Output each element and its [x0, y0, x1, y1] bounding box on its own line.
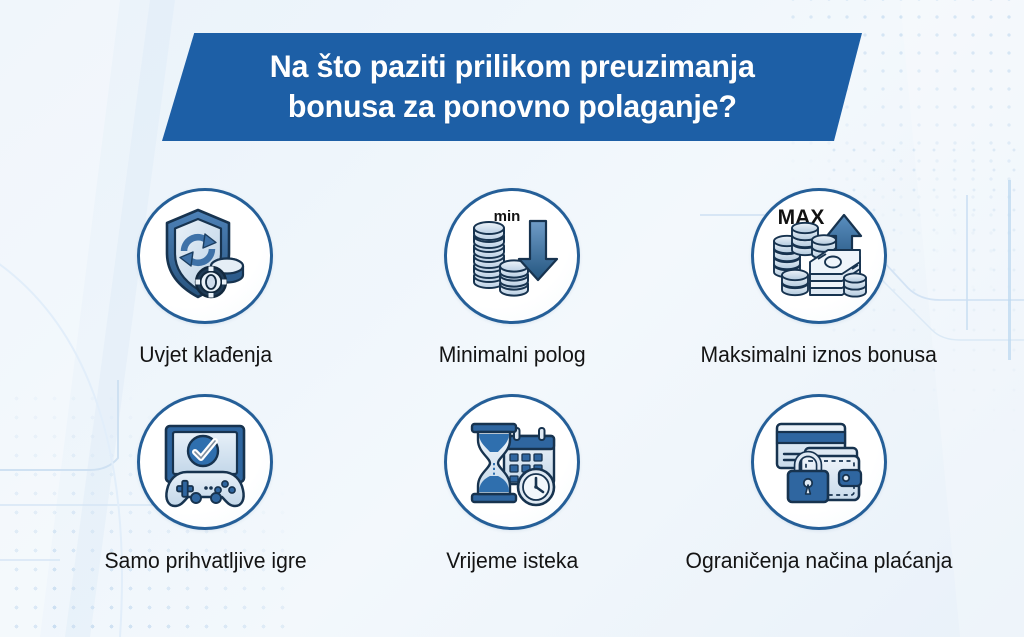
- shield-refresh-chips-icon: [153, 204, 257, 308]
- icon-circle: [444, 394, 580, 530]
- icon-circle: [137, 394, 273, 530]
- title-banner: Na što paziti prilikom preuzimanja bonus…: [162, 33, 862, 141]
- feature-grid: Uvjet klađenja: [52, 188, 972, 600]
- icon-circle: min: [444, 188, 580, 324]
- feature-label: Minimalni polog: [439, 343, 586, 368]
- feature-item-vrijeme-isteka[interactable]: Vrijeme isteka: [359, 394, 666, 600]
- coins-cash-max-up-arrow-icon: MAX: [766, 203, 872, 309]
- icon-circle: MAX: [751, 188, 887, 324]
- icon-circle: [137, 188, 273, 324]
- feature-item-samo-prihvatljive-igre[interactable]: Samo prihvatljive igre: [52, 394, 359, 600]
- monitor-check-gamepad-icon: [153, 410, 257, 514]
- feature-item-minimalni-polog[interactable]: min: [359, 188, 666, 394]
- page-title: Na što paziti prilikom preuzimanja bonus…: [270, 47, 755, 126]
- feature-item-maksimalni-iznos-bonusa[interactable]: MAX: [665, 188, 972, 394]
- hourglass-calendar-clock-icon: [460, 410, 564, 514]
- credit-card-wallet-lock-icon: [767, 410, 871, 514]
- feature-label: Samo prihvatljive igre: [104, 549, 306, 574]
- icon-circle: [751, 394, 887, 530]
- coins-min-down-arrow-icon: min: [460, 204, 564, 308]
- feature-label: Maksimalni iznos bonusa: [701, 343, 937, 368]
- feature-item-ogranicenja-nacina-placanja[interactable]: Ograničenja načina plaćanja: [665, 394, 972, 600]
- feature-label: Uvjet klađenja: [139, 343, 272, 368]
- infographic-canvas: Na što paziti prilikom preuzimanja bonus…: [0, 0, 1024, 637]
- feature-label: Vrijeme isteka: [446, 549, 578, 574]
- feature-item-uvjet-kladenja[interactable]: Uvjet klađenja: [52, 188, 359, 394]
- feature-label: Ograničenja načina plaćanja: [685, 549, 952, 574]
